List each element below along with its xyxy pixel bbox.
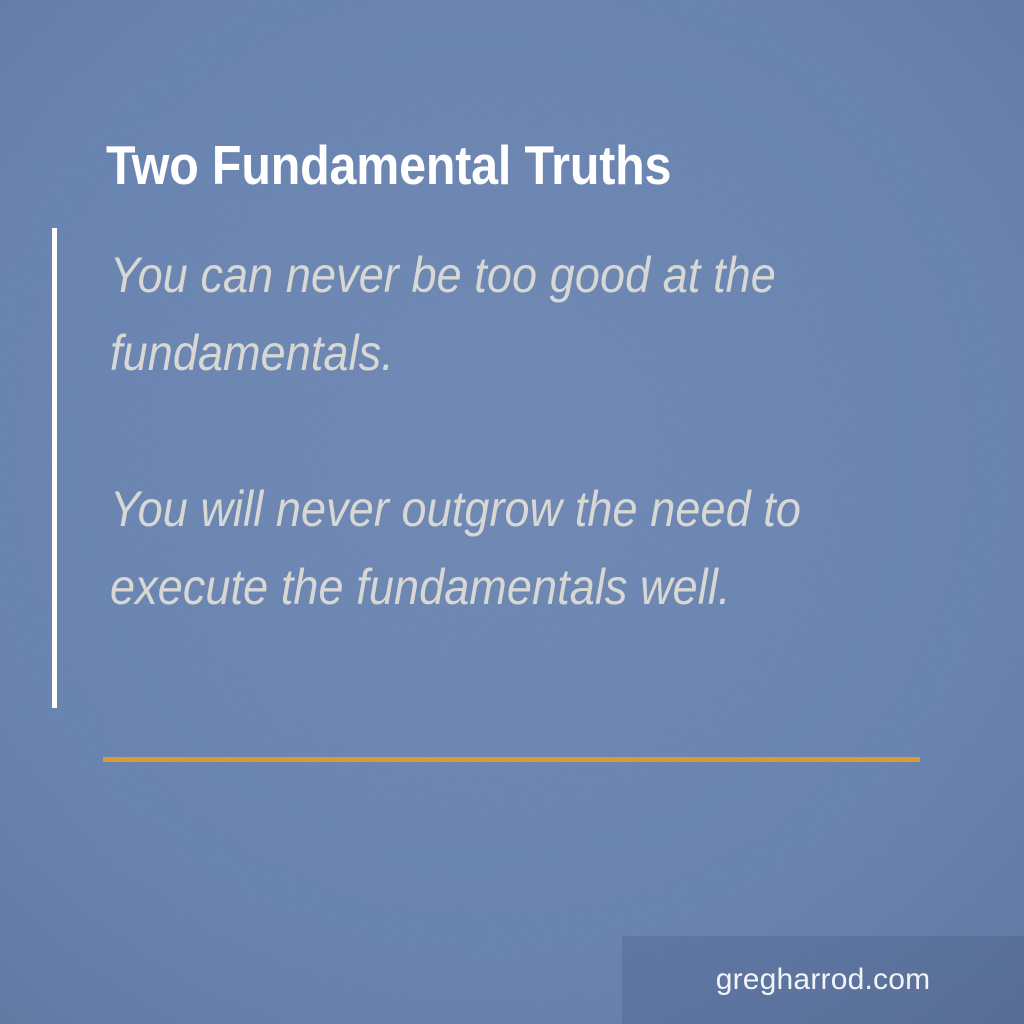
accent-divider-rule — [103, 757, 920, 762]
quote-paragraph-2: You will never outgrow the need to execu… — [110, 470, 939, 626]
footer-watermark-panel: gregharrod.com — [622, 936, 1024, 1024]
quote-paragraph-1: You can never be too good at the fundame… — [110, 236, 939, 392]
quote-block: You can never be too good at the fundame… — [110, 236, 940, 626]
quote-slide: Two Fundamental Truths You can never be … — [0, 0, 1024, 1024]
site-watermark: gregharrod.com — [716, 963, 931, 997]
page-title: Two Fundamental Truths — [106, 136, 671, 194]
quote-accent-bar — [52, 228, 57, 708]
